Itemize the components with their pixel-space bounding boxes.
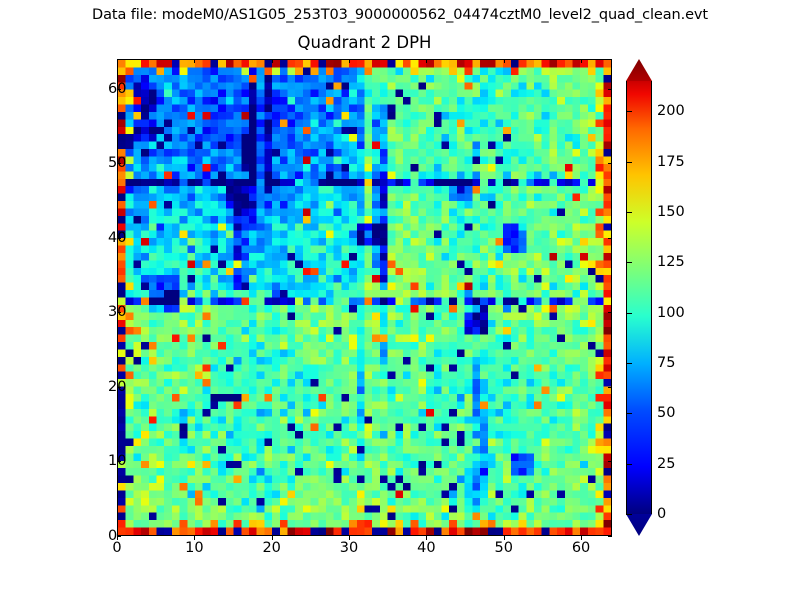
colorbar-tick-mark (626, 111, 632, 112)
x-tick-label: 10 (185, 540, 203, 556)
y-tick-mark-right (608, 536, 612, 537)
colorbar-tick-label: 100 (657, 305, 685, 321)
colorbar-tick-label: 75 (657, 355, 675, 371)
y-tick-label: 40 (108, 230, 126, 246)
colorbar-tick-mark (626, 262, 632, 263)
y-tick-label: 0 (108, 528, 117, 544)
colorbar-gradient (626, 81, 652, 514)
x-tick-mark-top (504, 59, 505, 63)
x-tick-label: 60 (572, 540, 590, 556)
colorbar-extend-min-arrow-icon (626, 514, 652, 536)
colorbar-extend-max-arrow-icon (626, 59, 652, 81)
y-tick-mark-right (608, 461, 612, 462)
colorbar-tick-label: 50 (657, 405, 675, 421)
y-tick-label: 60 (108, 81, 126, 97)
y-tick-label: 20 (108, 379, 126, 395)
y-tick-mark (117, 536, 121, 537)
colorbar-tick-label: 175 (657, 154, 685, 170)
colorbar-tick-mark (626, 162, 632, 163)
x-tick-label: 50 (494, 540, 512, 556)
x-tick-mark-top (194, 59, 195, 63)
colorbar-tick-label: 200 (657, 103, 685, 119)
x-tick-mark-top (349, 59, 350, 63)
colorbar-tick-mark (626, 514, 632, 515)
plot-title: Quadrant 2 DPH (117, 33, 612, 52)
y-tick-label: 30 (108, 304, 126, 320)
colorbar-tick-label: 125 (657, 254, 685, 270)
y-tick-mark-right (608, 312, 612, 313)
x-tick-label: 20 (262, 540, 280, 556)
colorbar-tick-mark (626, 464, 632, 465)
x-tick-label: 40 (417, 540, 435, 556)
colorbar-tick-label: 150 (657, 204, 685, 220)
figure-canvas: Data file: modeM0/AS1G05_253T03_90000005… (0, 0, 800, 600)
colorbar-tick-mark (626, 363, 632, 364)
y-tick-mark-right (608, 238, 612, 239)
colorbar-tick-mark (626, 212, 632, 213)
y-tick-mark-right (608, 89, 612, 90)
colorbar-tick-mark (626, 413, 632, 414)
y-tick-mark-right (608, 387, 612, 388)
y-tick-label: 50 (108, 155, 126, 171)
colorbar-tick-mark (626, 313, 632, 314)
y-tick-mark-right (608, 163, 612, 164)
colorbar-tick-label: 0 (657, 506, 666, 522)
x-tick-label: 30 (340, 540, 358, 556)
x-tick-mark-top (117, 59, 118, 63)
x-tick-mark-top (581, 59, 582, 63)
heatmap-axes (117, 59, 612, 536)
data-file-label: Data file: modeM0/AS1G05_253T03_90000005… (0, 7, 800, 23)
colorbar-tick-label: 25 (657, 456, 675, 472)
y-tick-label: 10 (108, 453, 126, 469)
x-tick-mark-top (426, 59, 427, 63)
x-tick-mark-top (272, 59, 273, 63)
heatmap-image (118, 60, 611, 535)
